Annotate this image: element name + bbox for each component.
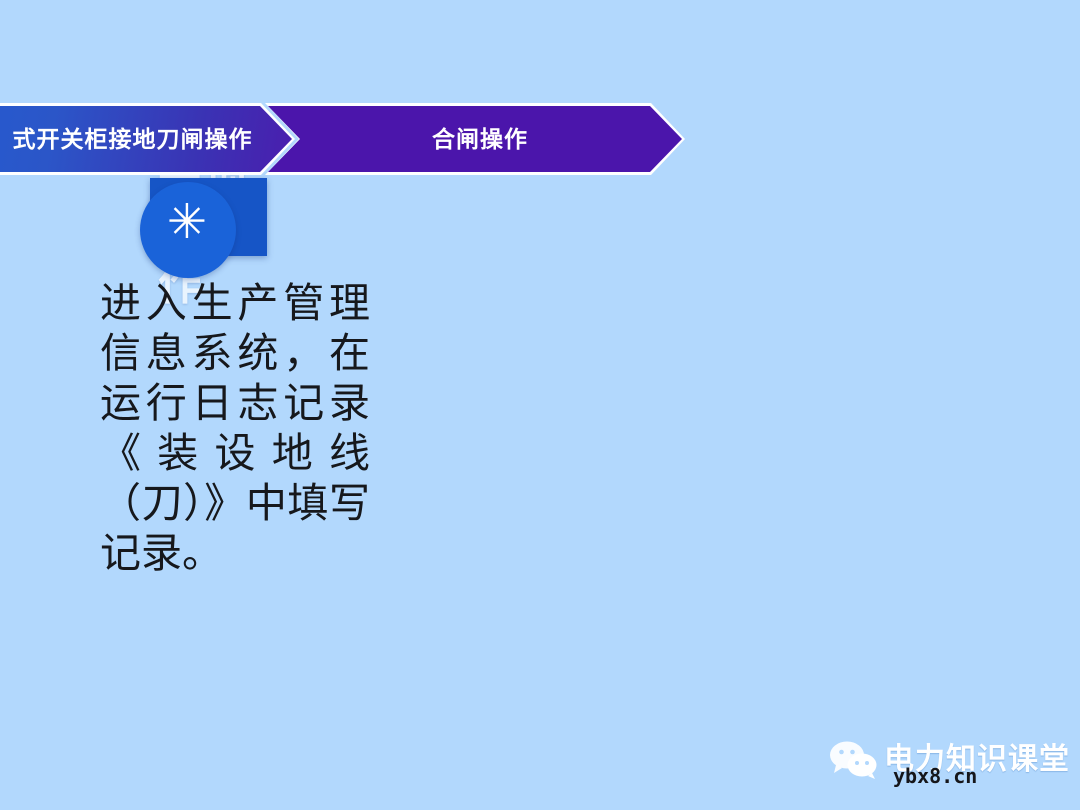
watermark-url: ybx8.cn	[893, 766, 977, 786]
body-paragraph: 进入生产管理信息系统，在运行日志记录《装设地线（刀）》中填写记录。	[100, 278, 370, 578]
process-step-2-fill: 合闸操作	[268, 106, 682, 172]
process-step-1-fill: 式开关柜接地刀闸操作	[0, 106, 292, 172]
process-step-1[interactable]: 式开关柜接地刀闸操作	[0, 103, 295, 175]
wechat-icon	[828, 739, 880, 781]
process-step-2[interactable]: 合闸操作	[265, 103, 685, 175]
slide-canvas: 式开关柜接地刀闸操作 合闸操作 专项 活 作 ✳ 进入生产管理信息系统，在运行日…	[0, 0, 1080, 810]
process-banner: 式开关柜接地刀闸操作 合闸操作	[0, 103, 685, 175]
asterisk-icon: ✳	[164, 200, 210, 246]
process-step-2-label: 合闸操作	[432, 128, 528, 151]
process-step-1-label: 式开关柜接地刀闸操作	[13, 128, 253, 151]
